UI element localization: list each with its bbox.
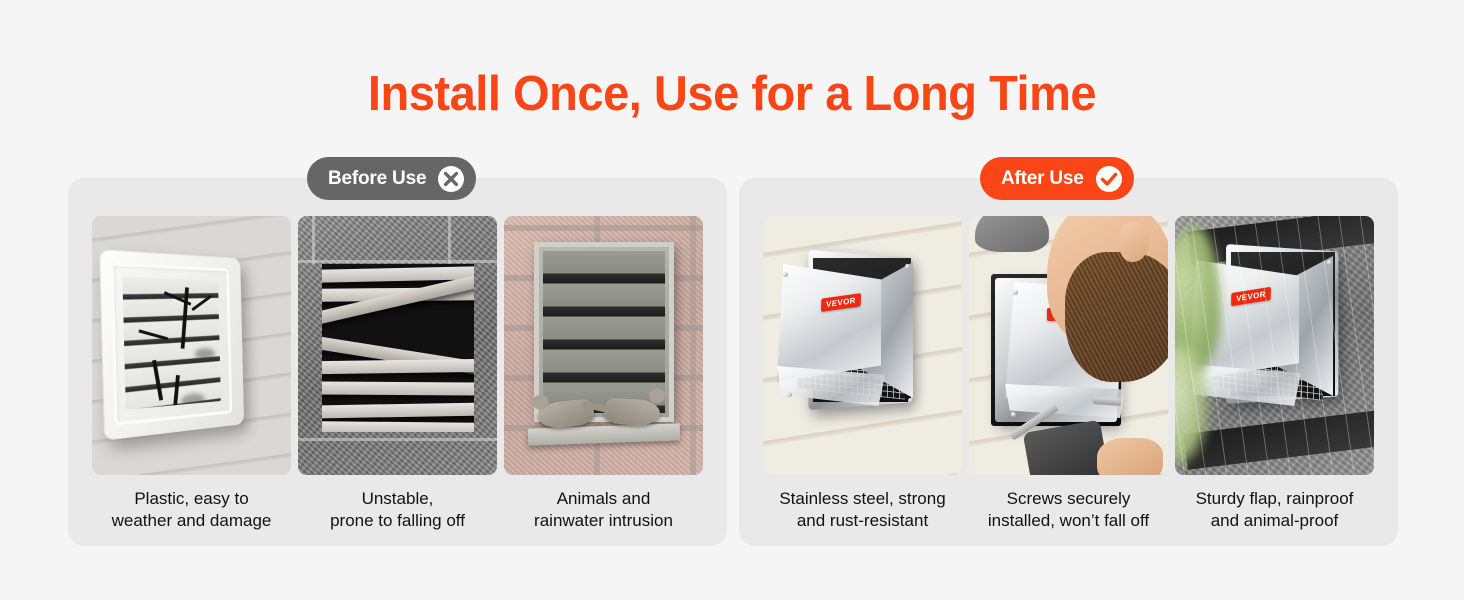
before-use-label: Before Use (328, 168, 426, 190)
louver-slats (122, 277, 220, 410)
card-caption: Stainless steel, strong and rust-resista… (763, 488, 962, 532)
card-unstable-slats[interactable]: Unstable, prone to falling off (298, 216, 497, 532)
card-caption: Screws securely installed, won’t fall of… (969, 488, 1168, 532)
card-screws-installed[interactable]: VEVOR Screws securely installed, won’t f… (969, 216, 1168, 532)
cap-shape (975, 216, 1049, 252)
after-panel: VEVOR Stainless steel, strong and rust-r… (739, 178, 1398, 546)
card-caption: Unstable, prone to falling off (298, 488, 497, 532)
broken-slat-group (322, 264, 474, 432)
thumb-stainless-steel: VEVOR (763, 216, 962, 475)
card-plastic-cracked[interactable]: Plastic, easy to weather and damage (92, 216, 291, 532)
thumb-sturdy-flap: VEVOR (1175, 216, 1374, 475)
circle-check-icon (1095, 165, 1123, 193)
thumb-animal-intrusion (504, 216, 703, 475)
card-sturdy-flap[interactable]: VEVOR Sturdy flap, rainproof and animal-… (1175, 216, 1374, 532)
before-use-badge[interactable]: Before Use (307, 157, 476, 200)
after-card-list: VEVOR Stainless steel, strong and rust-r… (763, 216, 1374, 532)
card-stainless-steel[interactable]: VEVOR Stainless steel, strong and rust-r… (763, 216, 962, 532)
card-caption: Animals and rainwater intrusion (504, 488, 703, 532)
thumb-plastic-cracked (92, 216, 291, 475)
thumb-unstable-slats (298, 216, 497, 475)
plastic-vent-shape (99, 249, 244, 441)
after-use-label: After Use (1001, 168, 1084, 190)
card-animal-intrusion[interactable]: Animals and rainwater intrusion (504, 216, 703, 532)
hand-shape (1097, 438, 1163, 475)
bird-icon (603, 398, 660, 427)
page-title: Install Once, Use for a Long Time (29, 64, 1434, 124)
promo-banner: Install Once, Use for a Long Time (0, 0, 1464, 600)
before-panel: Plastic, easy to weather and damage (68, 178, 727, 546)
thumb-screws-installed: VEVOR (969, 216, 1168, 475)
card-caption: Plastic, easy to weather and damage (92, 488, 291, 532)
beard-shape (1065, 252, 1168, 382)
after-use-badge[interactable]: After Use (980, 157, 1134, 200)
before-card-list: Plastic, easy to weather and damage (92, 216, 703, 532)
circle-x-icon (437, 165, 465, 193)
card-caption: Sturdy flap, rainproof and animal-proof (1175, 488, 1374, 532)
